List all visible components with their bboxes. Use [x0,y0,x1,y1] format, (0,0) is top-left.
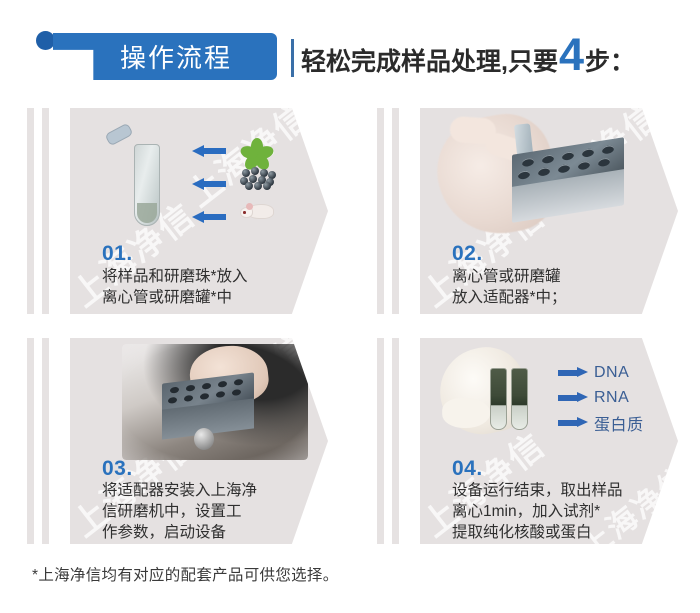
stripe [27,338,34,544]
illustration-tube-and-samples [98,122,308,240]
step-number: 02. [452,242,483,266]
step-description: 离心管或研磨罐 放入适配器*中； [452,266,567,308]
output-label: DNA [594,364,629,382]
stripe [377,338,384,544]
step-card-03: 上海净信 上海净信 [0,326,350,556]
headline: 轻松完成样品处理,只要 4 步： [301,36,635,82]
steps-grid: 上海净信 上海净信 [0,96,700,556]
headline-prefix: 轻松完成样品处理,只要 [301,50,558,75]
step-card-body-04: 上海净信 上海净信 DNA [420,338,678,544]
stripe [42,338,49,544]
illustration-grinder-install [122,344,308,460]
stripe [392,108,399,314]
stripe [27,108,34,314]
right-arrow-icon [558,367,588,378]
output-label: 蛋白质 [594,411,644,435]
adapter-block-icon [162,372,254,437]
stripe [377,108,384,314]
step-card-01: 上海净信 上海净信 [0,96,350,326]
sample-row-plant [192,136,304,166]
step-number: 03. [102,457,133,481]
illustration-vials-and-outputs: DNA RNA 蛋白质 [432,344,664,468]
step-description: 将适配器安装入上海净 信研磨机中，设置工 作参数，启动设备 [102,480,257,543]
stripe-decoration [377,338,417,544]
output-row-protein: 蛋白质 [558,410,664,435]
stripe-decoration [27,338,67,544]
output-label: RNA [594,389,629,407]
centrifuge-tube-icon [134,144,160,226]
step-description: 设备运行结束，取出样品 离心1min，加入试剂* 提取纯化核酸或蛋白 [452,480,623,543]
sample-row-beads [192,169,304,199]
step-card-04: 上海净信 上海净信 DNA [350,326,700,556]
stripe [42,108,49,314]
grinder-knob-icon [194,428,214,450]
leaf-icon [240,134,274,164]
footer-note: *上海净信均有对应的配套产品可供您选择。 [32,563,339,585]
section-title: 操作流程 [53,33,277,80]
grinding-beads-icon [240,167,278,191]
stripe-decoration [377,108,417,314]
illustration-hand-holding-adapter [428,110,658,246]
step-card-body-01: 上海净信 上海净信 [70,108,328,314]
step-description: 将样品和研磨珠*放入 离心管或研磨罐*中 [102,266,248,308]
headline-step-count: 4 [559,36,584,74]
sample-vial-icon [511,368,528,430]
output-row-dna: DNA [558,360,664,385]
headline-suffix: 步： [585,50,635,75]
step-card-body-03: 上海净信 上海净信 [70,338,328,544]
step-card-02: 上海净信 上海净信 [350,96,700,326]
left-arrow-icon [192,145,226,156]
headline-divider [291,39,294,77]
output-row-rna: RNA [558,385,664,410]
right-arrow-icon [558,392,588,403]
step-card-body-02: 上海净信 上海净信 [420,108,678,314]
step-number: 01. [102,242,133,266]
left-arrow-icon [192,211,226,222]
stripe [392,338,399,544]
right-arrow-icon [558,417,588,428]
sample-row-animal [192,202,304,232]
mouse-icon [240,200,278,222]
step-number: 04. [452,457,483,481]
left-arrow-icon [192,178,226,189]
sample-vial-icon [490,368,507,430]
page-header: 操作流程 轻松完成样品处理,只要 4 步： [0,0,700,96]
output-list: DNA RNA 蛋白质 [558,360,664,435]
tube-cap-icon [104,123,133,147]
stripe-decoration [27,108,67,314]
